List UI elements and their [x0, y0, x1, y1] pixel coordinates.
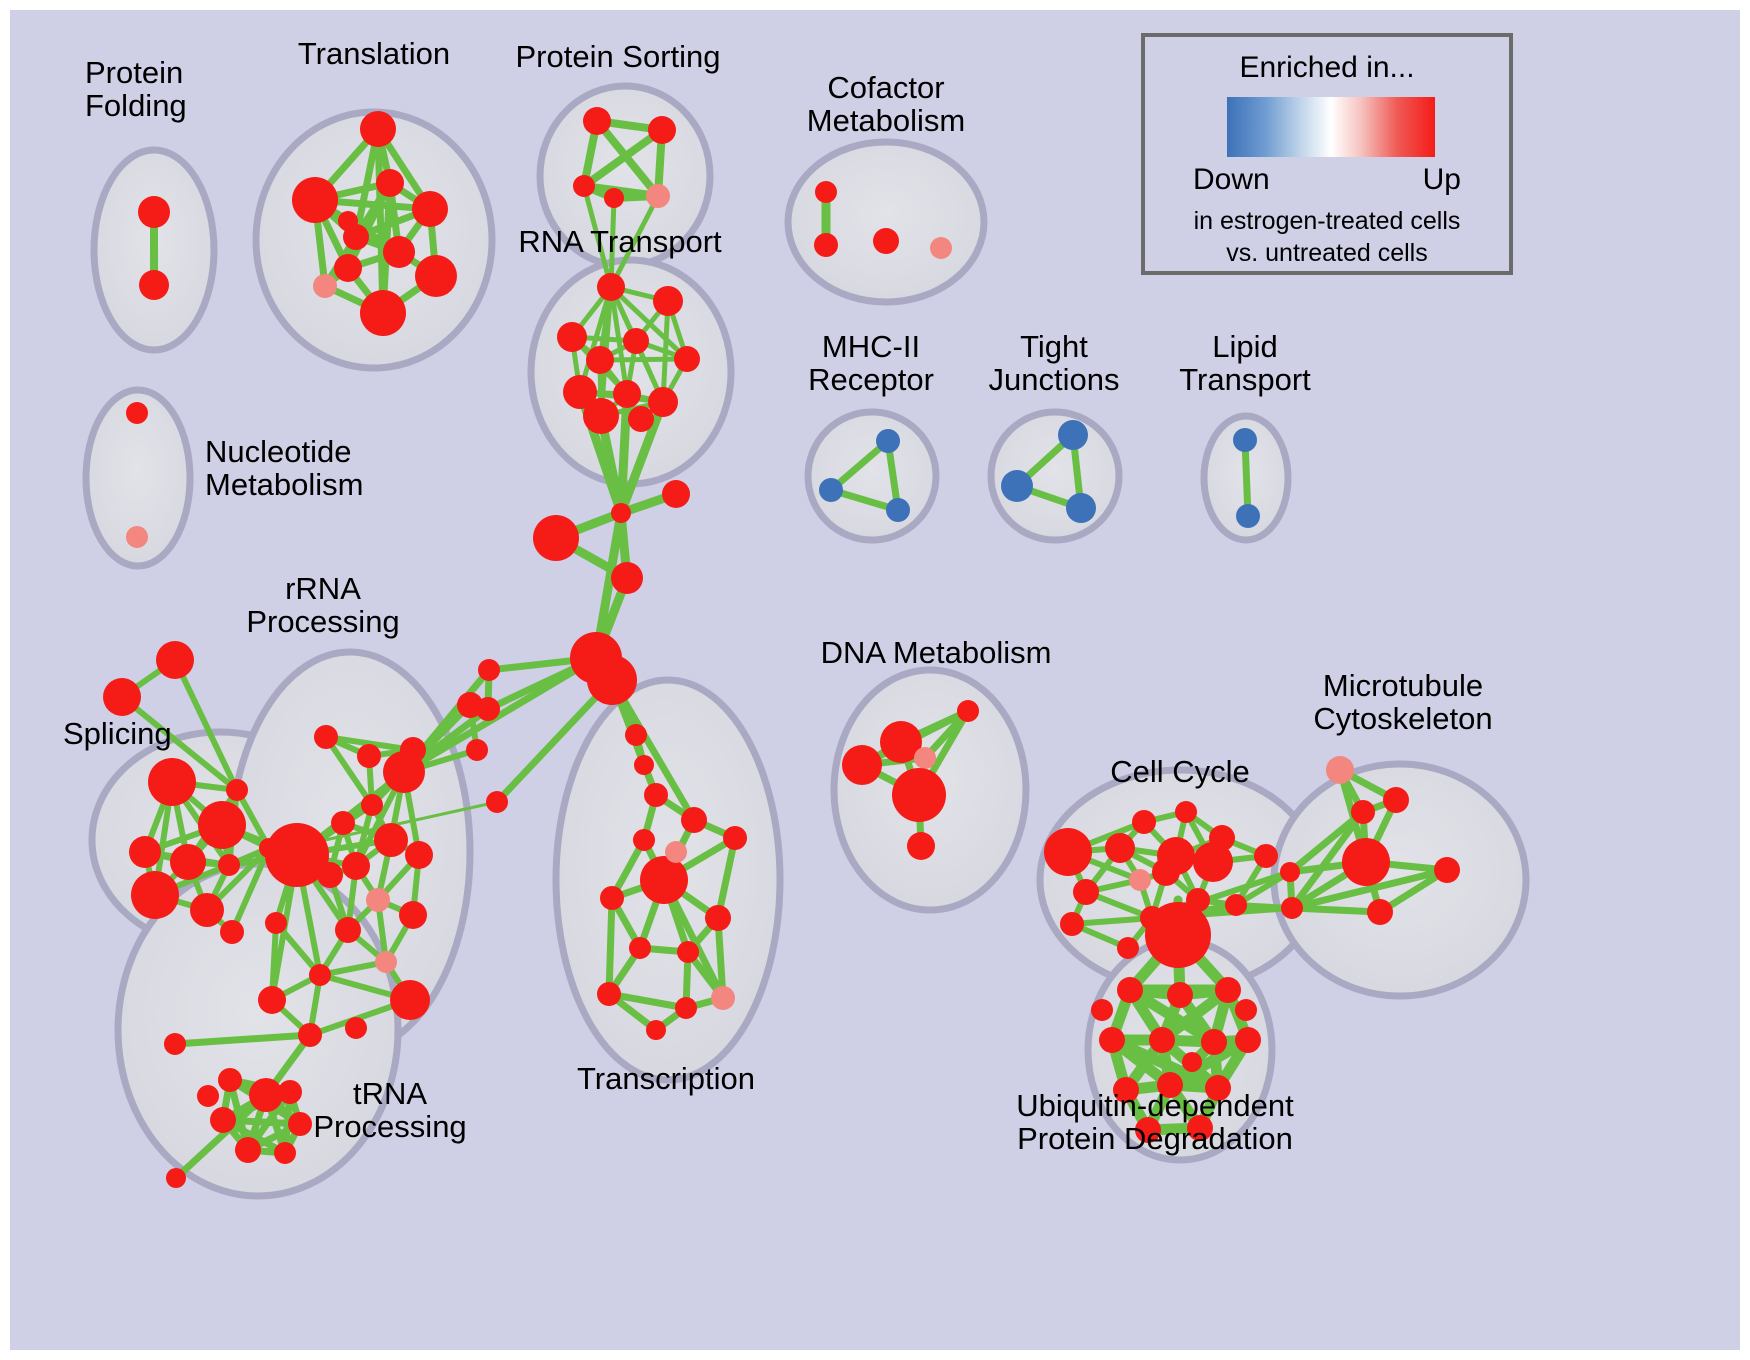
node	[1105, 833, 1135, 863]
node	[681, 807, 707, 833]
node	[405, 841, 433, 869]
node	[1434, 857, 1460, 883]
node	[819, 478, 843, 502]
node	[583, 107, 611, 135]
node	[613, 380, 641, 408]
node	[1215, 977, 1241, 1003]
node	[360, 290, 406, 336]
node	[1342, 838, 1390, 886]
figure-canvas: Protein Folding Translation Protein Sort…	[0, 0, 1750, 1360]
cluster-label-tight-junctions: Tight Junctions	[989, 331, 1120, 396]
node	[313, 274, 337, 298]
node	[335, 917, 361, 943]
node	[886, 498, 910, 522]
node	[1281, 897, 1303, 919]
node	[166, 1168, 186, 1188]
node	[374, 823, 408, 857]
node	[1367, 899, 1393, 925]
node	[218, 854, 240, 876]
node	[220, 920, 244, 944]
node	[1149, 1027, 1175, 1053]
node	[597, 273, 625, 301]
node	[457, 692, 483, 718]
node	[375, 951, 397, 973]
node	[633, 829, 655, 851]
node	[604, 188, 624, 208]
cluster-label-protein-folding: Protein Folding	[85, 57, 187, 122]
node	[314, 725, 338, 749]
node	[653, 286, 683, 316]
node	[1129, 869, 1151, 891]
node	[1193, 842, 1233, 882]
node	[249, 1078, 283, 1112]
cluster-label-translation: Translation	[298, 38, 450, 71]
node	[1254, 844, 1278, 868]
node	[198, 801, 246, 849]
node	[361, 794, 383, 816]
node	[1091, 999, 1113, 1021]
node	[629, 937, 651, 959]
node	[914, 747, 936, 769]
node	[226, 779, 248, 801]
node	[957, 700, 979, 722]
cluster-label-lipid-transport: Lipid Transport	[1179, 331, 1311, 396]
node	[625, 724, 647, 746]
node	[1225, 894, 1247, 916]
node	[611, 562, 643, 594]
node	[390, 980, 430, 1020]
node	[1073, 879, 1099, 905]
node	[126, 402, 148, 424]
legend-color-gradient-bar	[1227, 97, 1435, 157]
node	[892, 768, 946, 822]
node	[1201, 1029, 1227, 1055]
node	[345, 1017, 367, 1039]
node	[586, 346, 614, 374]
node	[597, 982, 621, 1006]
node	[662, 480, 690, 508]
node	[648, 387, 678, 417]
node	[1235, 1027, 1261, 1053]
node	[628, 406, 654, 432]
node	[103, 678, 141, 716]
legend-caption-line-1: in estrogen-treated cells	[1145, 207, 1509, 236]
node	[258, 986, 286, 1014]
node	[814, 233, 838, 257]
node	[674, 346, 700, 372]
node	[1066, 493, 1096, 523]
node	[623, 328, 649, 354]
node	[139, 270, 169, 300]
node	[399, 901, 427, 929]
legend-low-label: Down	[1193, 163, 1270, 197]
node	[197, 1085, 219, 1107]
node	[1145, 902, 1211, 968]
node	[646, 184, 670, 208]
node	[366, 888, 390, 912]
node	[360, 111, 396, 147]
node	[466, 739, 488, 761]
node	[1099, 1027, 1125, 1053]
node	[383, 751, 425, 793]
node	[842, 745, 882, 785]
node	[138, 196, 170, 228]
node	[342, 852, 370, 880]
node	[705, 905, 731, 931]
node	[644, 783, 668, 807]
node	[288, 1112, 312, 1136]
cluster-label-rna-transport: RNA Transport	[518, 226, 721, 259]
node	[1060, 912, 1084, 936]
node	[278, 1080, 302, 1104]
cluster-label-rrna-processing: rRNA Processing	[246, 573, 399, 638]
node	[1001, 470, 1033, 502]
node	[1233, 428, 1257, 452]
node	[930, 237, 952, 259]
cluster-label-trna-processing: tRNA Processing	[313, 1078, 466, 1143]
cluster-label-nucleotide-metabolism: Nucleotide Metabolism	[205, 436, 364, 501]
node	[1236, 504, 1260, 528]
node	[675, 997, 697, 1019]
node	[573, 175, 595, 197]
hull-cofactor-metabolism	[788, 142, 984, 302]
cluster-label-splicing: Splicing	[63, 718, 172, 751]
node	[1280, 862, 1300, 882]
legend-box: Enriched in... Down Up in estrogen-treat…	[1141, 33, 1513, 275]
node	[129, 836, 161, 868]
node	[665, 841, 687, 863]
node	[1152, 858, 1180, 886]
node	[309, 964, 331, 986]
node	[156, 641, 194, 679]
node	[383, 236, 415, 268]
legend-title: Enriched in...	[1145, 51, 1509, 85]
node	[646, 1020, 666, 1040]
node	[557, 322, 587, 352]
legend-high-label: Up	[1423, 163, 1461, 197]
cluster-label-cofactor-metabolism: Cofactor Metabolism	[807, 72, 966, 137]
node	[1175, 801, 1197, 823]
node	[1058, 420, 1088, 450]
node	[357, 744, 381, 768]
node	[587, 655, 637, 705]
node	[376, 169, 404, 197]
node	[338, 211, 358, 231]
node	[298, 1023, 322, 1047]
node	[634, 755, 654, 775]
node	[1132, 810, 1156, 834]
node	[148, 758, 196, 806]
node	[583, 398, 619, 434]
hull-mhc-ii-receptor	[808, 412, 936, 540]
node	[611, 503, 631, 523]
node	[218, 1068, 242, 1092]
node	[210, 1107, 236, 1133]
node	[1326, 756, 1354, 784]
cluster-label-mhc-ii-receptor: MHC-II Receptor	[808, 331, 934, 396]
node	[815, 181, 837, 203]
node	[723, 826, 747, 850]
node	[1167, 982, 1193, 1008]
node	[331, 811, 355, 835]
cluster-label-microtubule-cytoskeleton: Microtubule Cytoskeleton	[1313, 670, 1492, 735]
cluster-label-ubiquitin-degradation: Ubiquitin-dependent Protein Degradation	[1016, 1090, 1294, 1155]
node	[274, 1142, 296, 1164]
cluster-label-cell-cycle: Cell Cycle	[1110, 756, 1250, 789]
node	[876, 429, 900, 453]
node	[711, 986, 735, 1010]
node	[873, 228, 899, 254]
node	[1117, 937, 1139, 959]
node	[648, 116, 676, 144]
node	[533, 515, 579, 561]
node	[265, 912, 287, 934]
node	[170, 844, 206, 880]
node	[1044, 828, 1092, 876]
node	[412, 191, 448, 227]
node	[126, 526, 148, 548]
node	[190, 893, 224, 927]
node	[334, 254, 362, 282]
node	[292, 177, 338, 223]
cluster-label-protein-sorting: Protein Sorting	[515, 41, 720, 74]
node	[164, 1033, 186, 1055]
node	[478, 659, 500, 681]
node	[415, 255, 457, 297]
node	[486, 791, 508, 813]
cluster-label-dna-metabolism: DNA Metabolism	[821, 637, 1052, 670]
node	[1235, 999, 1257, 1021]
cluster-label-transcription: Transcription	[577, 1063, 755, 1096]
node	[1383, 787, 1409, 813]
node	[265, 823, 329, 887]
node	[677, 941, 699, 963]
node	[1182, 1052, 1202, 1072]
legend-caption-line-2: vs. untreated cells	[1145, 239, 1509, 268]
node	[600, 886, 624, 910]
node	[640, 856, 688, 904]
node	[1117, 977, 1143, 1003]
node	[131, 871, 179, 919]
node	[907, 832, 935, 860]
node	[235, 1137, 261, 1163]
node	[1351, 800, 1375, 824]
